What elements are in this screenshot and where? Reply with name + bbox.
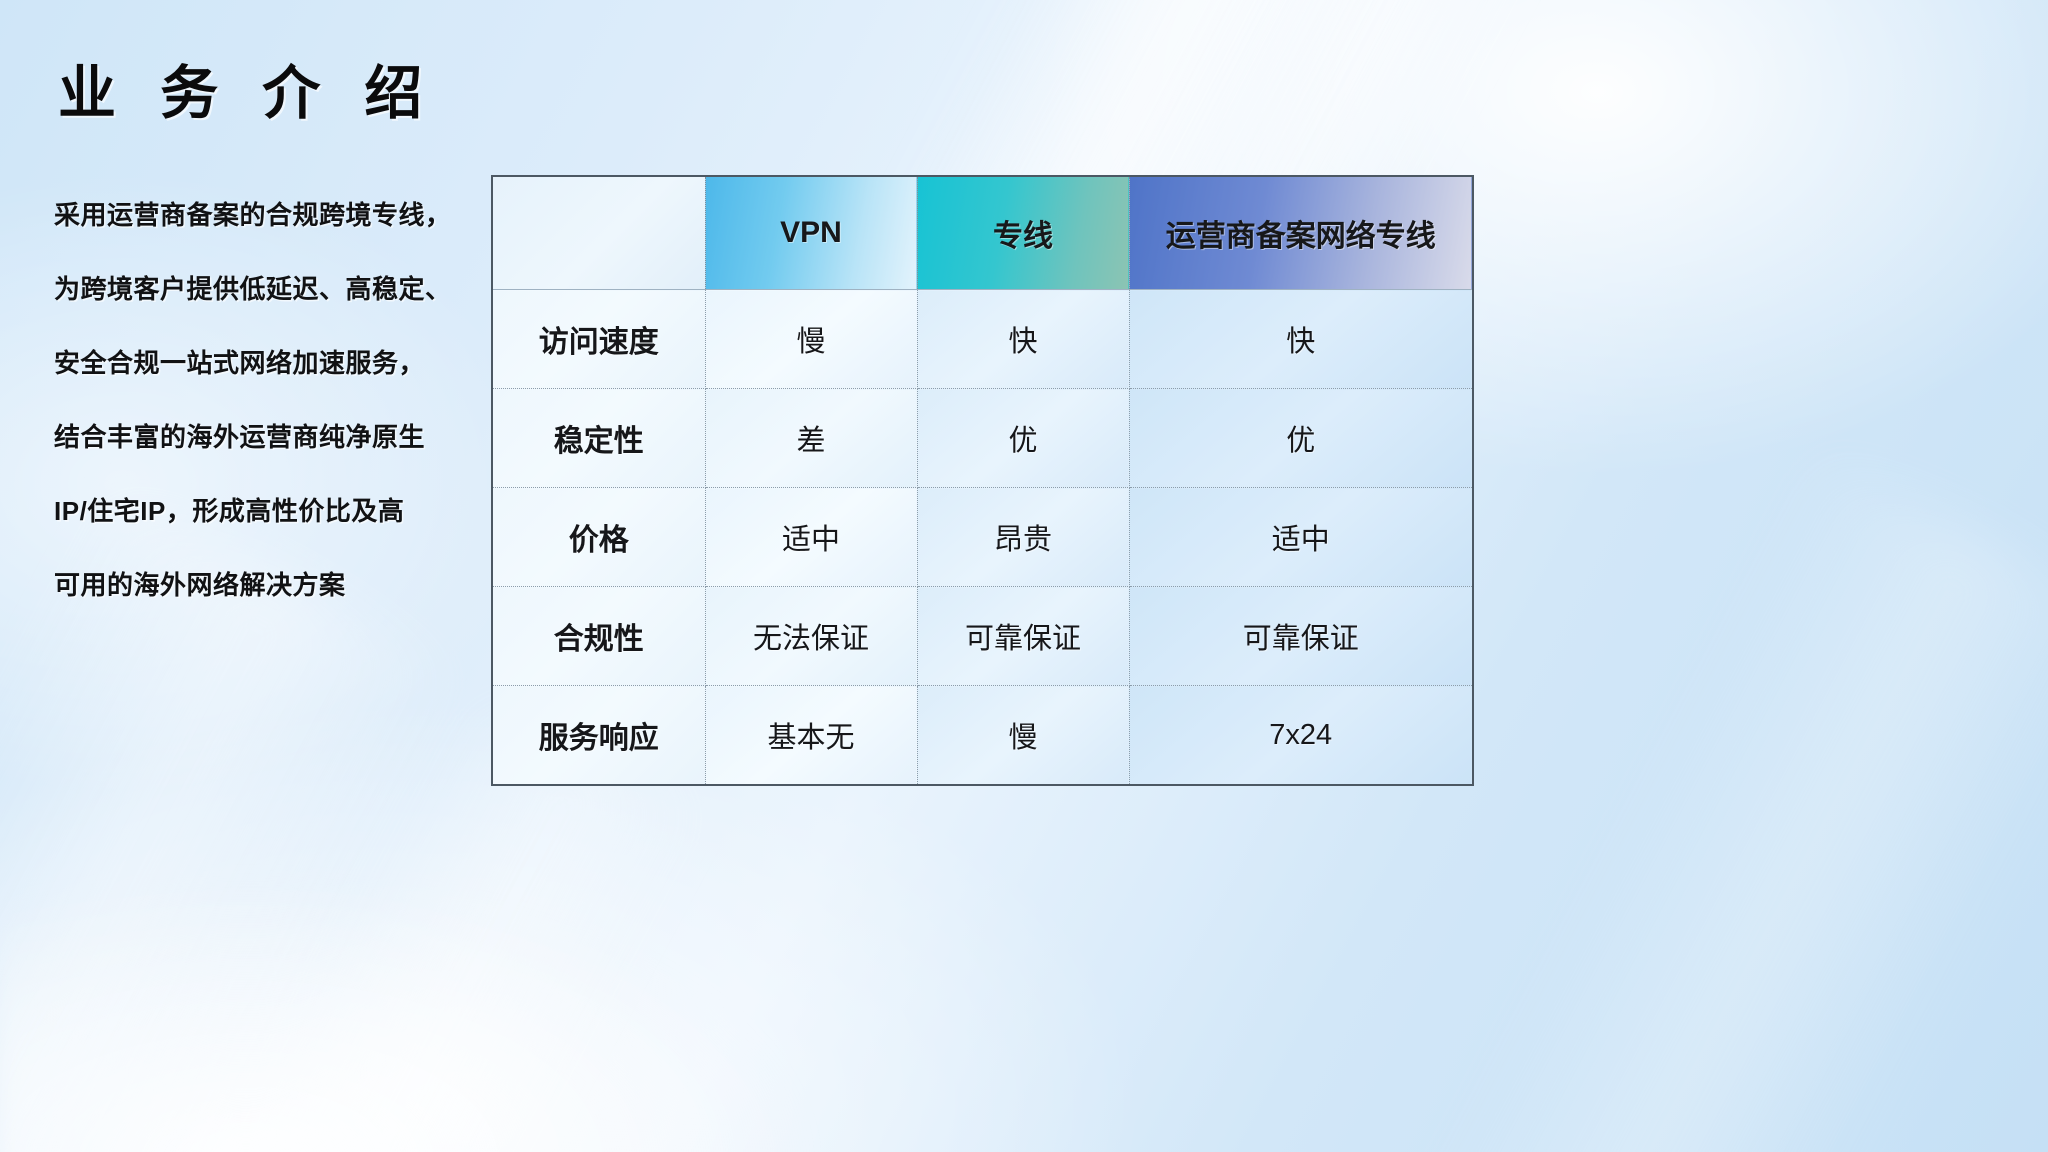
cell-compliance-carrier: 可靠保证 xyxy=(1129,587,1473,686)
cell-price-vpn: 适中 xyxy=(705,488,917,587)
cell-stability-line: 优 xyxy=(917,389,1129,488)
row-label-access-speed: 访问速度 xyxy=(492,290,705,389)
intro-paragraph: 采用运营商备案的合规跨境专线， 为跨境客户提供低延迟、高稳定、 安全合规一站式网… xyxy=(54,178,484,622)
intro-line: 为跨境客户提供低延迟、高稳定、 xyxy=(54,252,484,326)
cell-access-speed-carrier: 快 xyxy=(1129,290,1473,389)
table-row: 访问速度 慢 快 快 xyxy=(492,290,1473,389)
table-header-dedicated-line: 专线 xyxy=(917,176,1129,290)
slide-canvas: 业 务 介 绍 采用运营商备案的合规跨境专线， 为跨境客户提供低延迟、高稳定、 … xyxy=(0,0,2048,1152)
corner-glow xyxy=(0,872,820,1152)
table-header-blank xyxy=(492,176,705,290)
page-title: 业 务 介 绍 xyxy=(58,46,436,130)
row-label-compliance: 合规性 xyxy=(492,587,705,686)
cell-service-response-vpn: 基本无 xyxy=(705,686,917,786)
table-body: 访问速度 慢 快 快 稳定性 差 优 优 价格 适中 昂贵 适中 合规性 无法保… xyxy=(492,290,1473,786)
cell-service-response-carrier: 7x24 xyxy=(1129,686,1473,786)
cell-access-speed-line: 快 xyxy=(917,290,1129,389)
table-row: 价格 适中 昂贵 适中 xyxy=(492,488,1473,587)
table-header-row: VPN 专线 运营商备案网络专线 xyxy=(492,176,1473,290)
cell-service-response-line: 慢 xyxy=(917,686,1129,786)
cell-price-line: 昂贵 xyxy=(917,488,1129,587)
intro-line: 采用运营商备案的合规跨境专线， xyxy=(54,178,484,252)
cell-stability-carrier: 优 xyxy=(1129,389,1473,488)
cell-access-speed-vpn: 慢 xyxy=(705,290,917,389)
table-row: 合规性 无法保证 可靠保证 可靠保证 xyxy=(492,587,1473,686)
intro-line: 安全合规一站式网络加速服务， xyxy=(54,326,484,400)
row-label-service-response: 服务响应 xyxy=(492,686,705,786)
table-row: 服务响应 基本无 慢 7x24 xyxy=(492,686,1473,786)
comparison-table: VPN 专线 运营商备案网络专线 访问速度 慢 快 快 稳定性 差 优 优 价格… xyxy=(491,175,1474,786)
intro-line: IP/住宅IP，形成高性价比及高 xyxy=(54,474,484,548)
table-header-carrier-registered-line: 运营商备案网络专线 xyxy=(1129,176,1473,290)
cell-price-carrier: 适中 xyxy=(1129,488,1473,587)
table-row: 稳定性 差 优 优 xyxy=(492,389,1473,488)
row-label-price: 价格 xyxy=(492,488,705,587)
intro-line: 结合丰富的海外运营商纯净原生 xyxy=(54,400,484,474)
cell-compliance-line: 可靠保证 xyxy=(917,587,1129,686)
cell-stability-vpn: 差 xyxy=(705,389,917,488)
row-label-stability: 稳定性 xyxy=(492,389,705,488)
intro-line: 可用的海外网络解决方案 xyxy=(54,548,484,622)
table-header-vpn: VPN xyxy=(705,176,917,290)
cell-compliance-vpn: 无法保证 xyxy=(705,587,917,686)
